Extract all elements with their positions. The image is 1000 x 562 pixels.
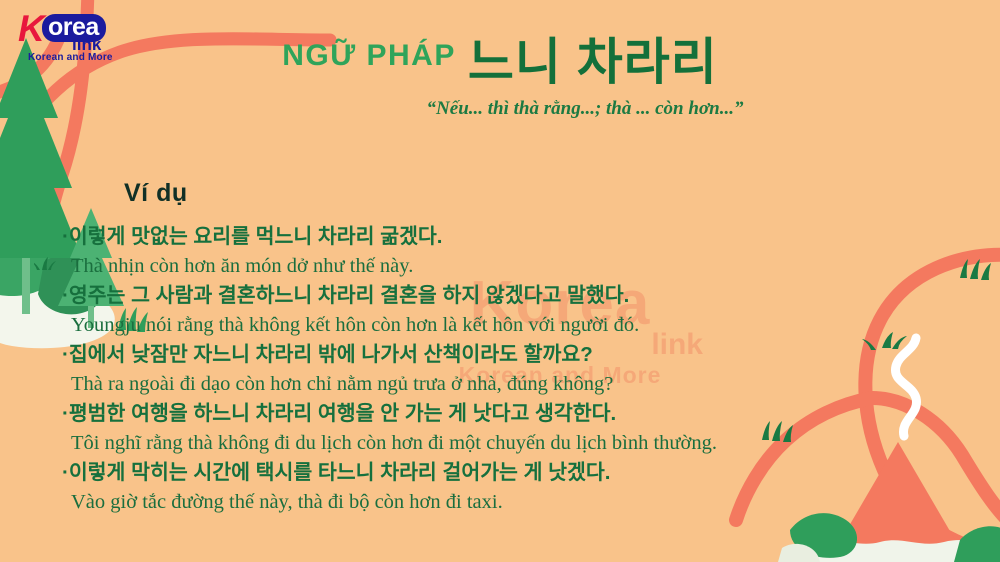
grass-tuft-bullet-icon [34,256,56,272]
subtitle-meaning: “Nếu... thì thà rằng...; thà ... còn hơn… [0,98,1000,120]
example-vietnamese-sentence: Vào giờ tắc đường thế này, thà đi bộ còn… [62,488,962,518]
example-korean-text: ·평범한 여행을 하느니 차라리 여행을 안 가는 게 낫다고 생각한다. [62,402,616,425]
example-vietnamese-sentence: Youngju nói rằng thà không kết hôn còn h… [62,311,962,341]
example-korean-sentence: ·평범한 여행을 하느니 차라리 여행을 안 가는 게 낫다고 생각한다. [62,399,962,429]
example-vietnamese-sentence: Tôi nghĩ rằng thà không đi du lịch còn h… [62,429,962,459]
section-heading-examples: Ví dụ [124,179,188,208]
example-vietnamese-sentence: Thà nhịn còn hơn ăn món dở như thế này. [62,252,962,282]
example-korean-sentence: ·이렇게 맛없는 요리를 먹느니 차라리 굶겠다. [62,222,962,252]
example-korean-text: ·집에서 낮잠만 자느니 차라리 밖에 나가서 산책이라도 할까요? [62,343,593,366]
example-vietnamese-text: Tôi nghĩ rằng thà không đi du lịch còn h… [71,432,717,454]
example-korean-sentence: ·집에서 낮잠만 자느니 차라리 밖에 나가서 산책이라도 할까요? [62,340,962,370]
example-korean-text: ·이렇게 맛없는 요리를 먹느니 차라리 굶겠다. [62,225,442,248]
example-vietnamese-text: Thà ra ngoài đi dạo còn hơn chỉ nằm ngủ … [71,373,613,395]
example-vietnamese-text: Youngju nói rằng thà không kết hôn còn h… [71,314,639,336]
example-vietnamese-text: Vào giờ tắc đường thế này, thà đi bộ còn… [71,491,503,513]
example-vietnamese-text: Thà nhịn còn hơn ăn món dở như thế này. [71,255,413,277]
example-korean-text: ·영주는 그 사람과 결혼하느니 차라리 결혼을 하지 않겠다고 말했다. [62,284,629,307]
example-korean-sentence: ·이렇게 막히는 시간에 택시를 타느니 차라리 걸어가는 게 낫겠다. [62,458,962,488]
title-korean-grammar: 느니 차라리 [468,34,718,90]
slide-canvas: Korea link Korean and More K orea link K… [0,0,1000,562]
example-korean-text: ·이렇게 막히는 시간에 택시를 타느니 차라리 걸어가는 게 낫겠다. [62,461,610,484]
example-korean-sentence: ·영주는 그 사람과 결혼하느니 차라리 결혼을 하지 않겠다고 말했다. [62,281,962,311]
example-vietnamese-sentence: Thà ra ngoài đi dạo còn hơn chỉ nằm ngủ … [62,370,962,400]
examples-list: ·이렇게 맛없는 요리를 먹느니 차라리 굶겠다. Thà nhịn còn h… [62,222,962,517]
page-title: NGỮ PHÁP느니 차라리 [0,22,1000,94]
title-vietnamese-label: NGỮ PHÁP [282,39,456,72]
